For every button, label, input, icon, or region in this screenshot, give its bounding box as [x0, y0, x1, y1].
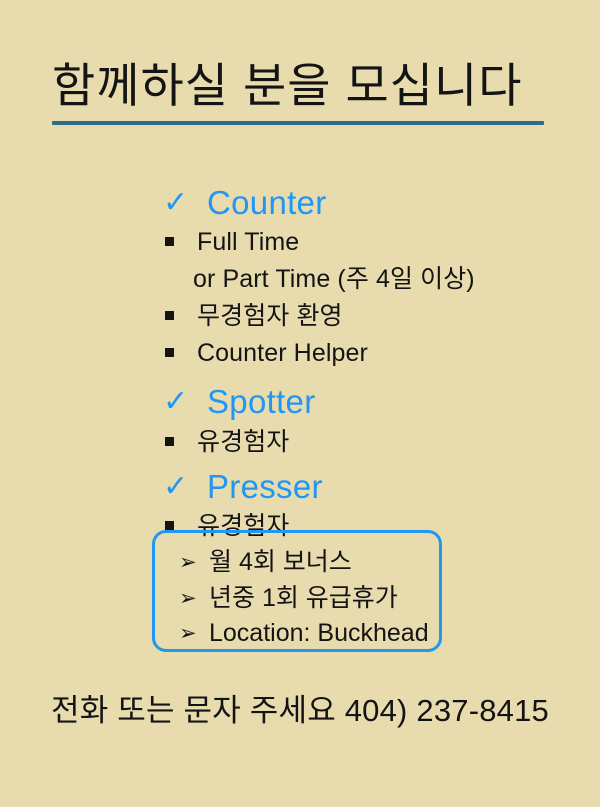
benefits-box: ➢ 월 4회 보너스 ➢ 년중 1회 유급휴가 ➢ Location: Buck…	[152, 530, 442, 652]
contact-footer: 전화 또는 문자 주세요 404) 237-8415	[0, 692, 600, 731]
list-item: 무경험자 환영	[0, 299, 600, 335]
list-item-label: 유경험자	[197, 425, 289, 461]
poster-title-block: 함께하실 분을 모십니다	[52, 58, 552, 125]
square-bullet-icon	[165, 308, 197, 323]
section-spacer	[0, 372, 600, 381]
contact-phone-text: 전화 또는 문자 주세요 404) 237-8415	[51, 693, 549, 728]
benefit-item-label: 월 4회 보너스	[209, 545, 352, 580]
square-bullet-icon	[165, 345, 197, 360]
arrow-bullet-icon: ➢	[179, 552, 209, 573]
list-item-continuation-label: or Part Time (주 4일 이상)	[193, 262, 600, 298]
check-icon: ✓	[163, 188, 207, 218]
role-heading-spotter: ✓ Spotter	[0, 381, 600, 422]
square-bullet-icon	[165, 234, 197, 249]
title-underline-rule	[52, 121, 544, 125]
arrow-bullet-icon: ➢	[179, 623, 209, 644]
arrow-bullet-icon: ➢	[179, 588, 209, 609]
check-icon: ✓	[163, 387, 207, 417]
list-item: Counter Helper	[0, 336, 600, 372]
benefit-item-label: Location: Buckhead	[209, 616, 429, 651]
list-item-label: Counter Helper	[197, 336, 368, 372]
benefit-item-label: 년중 1회 유급휴가	[209, 581, 398, 616]
benefit-item: ➢ 년중 1회 유급휴가	[179, 581, 439, 616]
list-item-label: 무경험자 환영	[197, 299, 343, 335]
benefit-item: ➢ 월 4회 보너스	[179, 545, 439, 580]
role-heading-presser: ✓ Presser	[0, 466, 600, 507]
benefit-item: ➢ Location: Buckhead	[179, 616, 439, 651]
role-label-presser: Presser	[207, 466, 323, 507]
check-icon: ✓	[163, 472, 207, 502]
square-bullet-icon	[165, 434, 197, 449]
role-heading-counter: ✓ Counter	[0, 182, 600, 223]
page-title: 함께하실 분을 모십니다	[52, 58, 552, 113]
list-item-label: Full Time	[197, 225, 299, 261]
list-item-continuation: or Part Time (주 4일 이상)	[0, 262, 600, 298]
list-item: 유경험자	[0, 425, 600, 461]
job-posting-poster: 함께하실 분을 모십니다 ✓ Counter Full Time or Part…	[0, 0, 600, 807]
role-label-spotter: Spotter	[207, 381, 316, 422]
list-item: Full Time	[0, 225, 600, 261]
job-role-list: ✓ Counter Full Time or Part Time (주 4일 이…	[0, 182, 600, 546]
role-label-counter: Counter	[207, 182, 327, 223]
